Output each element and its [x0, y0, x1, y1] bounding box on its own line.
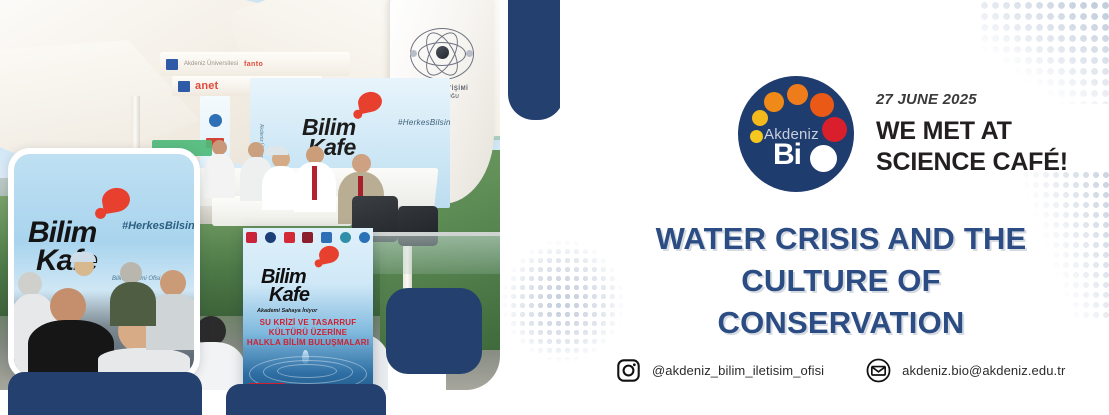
navy-shape-bottom-left — [8, 372, 202, 415]
person-head — [120, 262, 142, 284]
poster-subtitle: Akademi Sahaya İniyor — [257, 308, 317, 314]
backdrop-hashtag: #HerkesBilsin — [398, 118, 451, 127]
umbrella-sponsor-strip: Akdeniz Üniversitesi fanto — [160, 52, 350, 76]
speech-bubble-icon — [356, 90, 384, 115]
instagram-icon — [616, 358, 641, 383]
atom-nucleus — [436, 46, 449, 59]
sponsor-label-2: anet — [195, 80, 218, 92]
header-line-2: SCIENCE CAFÉ! — [876, 147, 1098, 178]
title-line-3: CONSERVATION — [606, 302, 1076, 344]
logo-text-bio: Bi — [773, 138, 801, 172]
person-body — [98, 348, 190, 374]
sponsor-logo-icon-3 — [284, 232, 295, 243]
atom-icon — [410, 28, 474, 80]
audience-photo: Bilim Kafe #HerkesBilsin Bilim İletişimi… — [8, 148, 200, 380]
sponsor-logo-icon-6 — [340, 232, 351, 243]
person-head — [18, 272, 42, 296]
person-head — [50, 288, 86, 324]
title-line-2: CULTURE OF — [606, 260, 1076, 302]
sponsor-logo-icon-1 — [246, 232, 257, 243]
sponsor-mark-icon-2 — [178, 81, 190, 92]
person-head — [248, 142, 264, 158]
logo-circle-white-o — [810, 145, 837, 172]
poster-topic-line1: SU KRİZİ VE TASARRUF — [243, 318, 373, 327]
logo-circle-orange-2 — [787, 84, 808, 105]
event-banner: Akdeniz Üniversitesi fanto anet — [0, 0, 1109, 415]
rollup-dot-icon — [209, 114, 222, 127]
sponsor-logo-icon-4 — [302, 232, 313, 243]
header-text-block: 27 JUNE 2025 WE MET AT SCIENCE CAFÉ! — [876, 91, 1098, 177]
navy-shape-right-middle — [386, 288, 482, 374]
akdeniz-bio-logo: Akdeniz Bi — [738, 76, 854, 192]
inset-hashtag: #HerkesBilsin — [122, 220, 195, 232]
email-contact[interactable]: akdeniz.bio@akdeniz.edu.tr — [866, 358, 1065, 383]
blue-cap-icon — [70, 252, 96, 262]
speech-bubble-icon — [317, 244, 340, 265]
sponsor-logo-icon-5 — [321, 232, 332, 243]
sponsor-mark-icon — [166, 59, 178, 70]
title-line-1: WATER CRISIS AND THE — [606, 218, 1076, 260]
sponsor-sub-label: Akdeniz Üniversitesi — [184, 61, 238, 67]
person-head — [352, 154, 371, 173]
event-date: 27 JUNE 2025 — [876, 91, 1098, 108]
instagram-handle: @akdeniz_bilim_iletisim_ofisi — [652, 363, 824, 378]
speech-bubble-icon — [100, 186, 132, 214]
navy-shape-bottom-middle — [226, 384, 386, 415]
person-body — [110, 282, 156, 326]
atom-electron-1 — [410, 50, 417, 57]
navy-shape-right-top — [508, 0, 560, 120]
atom-electron-2 — [466, 50, 473, 57]
inset-crowd — [14, 254, 200, 374]
poster-topic-line3: HALKLA BİLİM BULUŞMALARI — [243, 338, 373, 347]
logo-circle-yellow-1 — [750, 130, 763, 143]
sponsor-label-1: fanto — [244, 61, 263, 68]
email-icon — [866, 358, 891, 383]
header-row: Akdeniz Bi 27 JUNE 2025 WE MET AT SCIENC… — [738, 72, 1098, 196]
contact-row: @akdeniz_bilim_iletisim_ofisi akdeniz.bi… — [616, 358, 1086, 383]
email-address: akdeniz.bio@akdeniz.edu.tr — [902, 363, 1065, 378]
poster-topic-line2: KÜLTÜRÜ ÜZERİNE — [243, 328, 373, 337]
sponsor-logo-icon-7 — [359, 232, 370, 243]
necktie — [312, 166, 317, 200]
instagram-contact[interactable]: @akdeniz_bilim_iletisim_ofisi — [616, 358, 824, 383]
person-body — [204, 154, 235, 198]
sponsor-logo-icon-2 — [265, 232, 276, 243]
person-head — [212, 140, 227, 155]
logo-circle-red — [822, 117, 847, 142]
poster-sponsor-logos — [246, 232, 370, 243]
logo-circle-orange-1 — [764, 92, 784, 112]
logo-circle-yellow-2 — [752, 110, 768, 126]
page-title: WATER CRISIS AND THE CULTURE OF CONSERVA… — [606, 218, 1076, 344]
poster-brand-line2: Kafe — [269, 284, 309, 307]
photo-collage: Akdeniz Üniversitesi fanto anet — [0, 0, 560, 415]
person-head — [160, 270, 186, 296]
content-panel: Akdeniz Bi 27 JUNE 2025 WE MET AT SCIENC… — [560, 0, 1109, 415]
logo-circle-orange-3 — [810, 93, 834, 117]
white-cap-icon — [266, 146, 288, 155]
header-line-1: WE MET AT — [876, 116, 1098, 147]
